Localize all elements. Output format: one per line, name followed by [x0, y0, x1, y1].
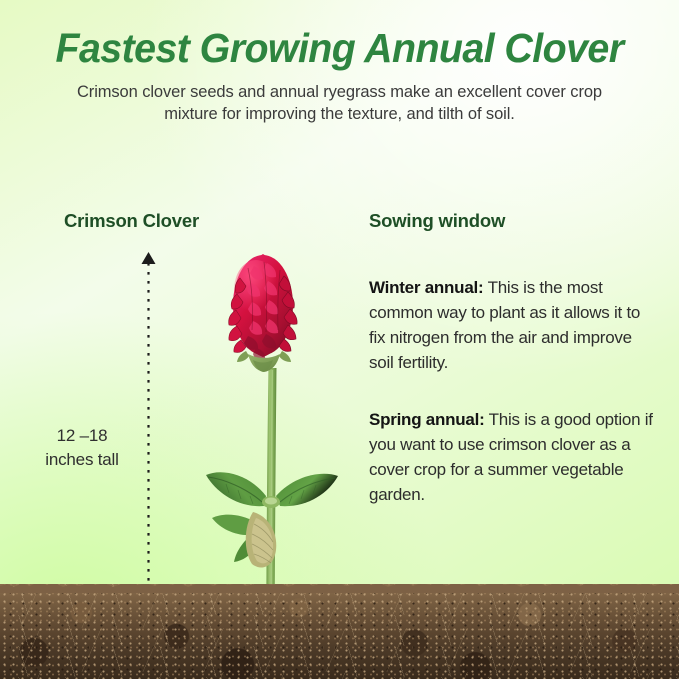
- clover-flower-head: [229, 254, 297, 359]
- soil-top-edge: [0, 584, 679, 593]
- crimson-clover-heading: Crimson Clover: [64, 210, 199, 232]
- spring-annual-label: Spring annual:: [369, 410, 485, 429]
- soil-body: [0, 584, 679, 679]
- page-subtitle: Crimson clover seeds and annual ryegrass…: [50, 81, 630, 125]
- soil-bed-photo: [0, 584, 679, 679]
- soil-straw-texture: [0, 584, 679, 679]
- height-measure-label: 12 –18 inches tall: [28, 424, 136, 472]
- page-title: Fastest Growing Annual Clover: [14, 24, 666, 72]
- winter-annual-label: Winter annual:: [369, 278, 483, 297]
- sowing-window-heading: Sowing window: [369, 210, 657, 232]
- height-measure-value: 12 –18: [28, 424, 136, 448]
- winter-annual-paragraph: Winter annual: This is the most common w…: [369, 275, 657, 375]
- height-measure-unit: inches tall: [28, 448, 136, 472]
- up-arrow-dotted-icon: [141, 252, 157, 604]
- infographic-canvas: Fastest Growing Annual Clover Crimson cl…: [0, 0, 679, 679]
- header: Fastest Growing Annual Clover Crimson cl…: [0, 24, 679, 125]
- crimson-clover-plant-illustration: [196, 250, 376, 625]
- leaf-left-upper: [206, 472, 266, 506]
- clover-plant-icon: [196, 250, 376, 625]
- spring-annual-paragraph: Spring annual: This is a good option if …: [369, 407, 657, 507]
- height-measure-arrow: [141, 252, 157, 604]
- sowing-window-section: Sowing window Winter annual: This is the…: [369, 210, 657, 539]
